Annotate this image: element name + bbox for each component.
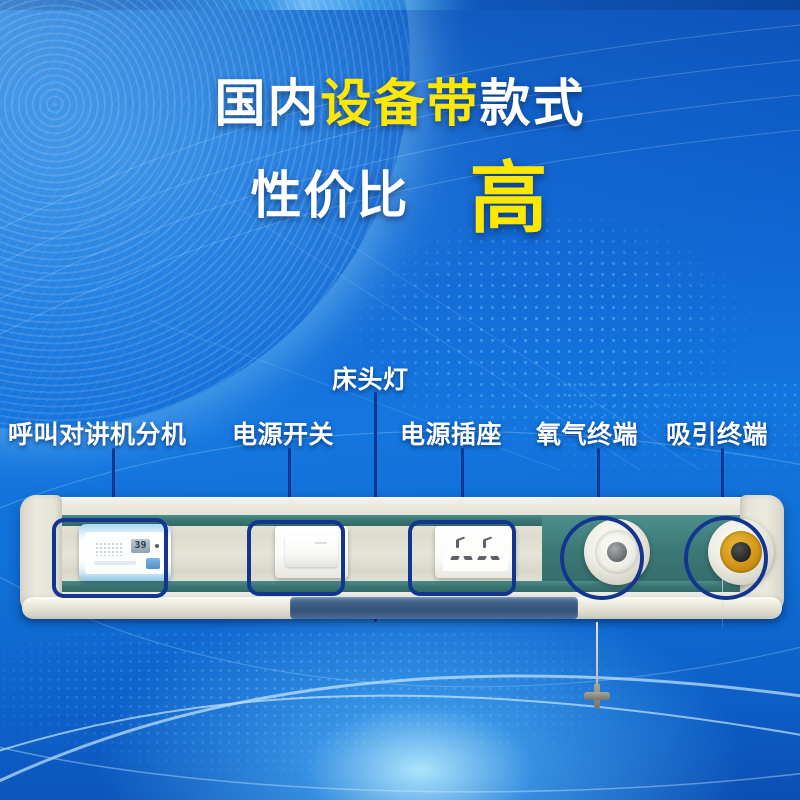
headline-part-2: 设备带 (320, 75, 479, 134)
bed-light-lens (290, 597, 578, 619)
callout-power-socket-label: 电源插座 (400, 415, 502, 451)
highlight-box-power-switch (247, 520, 345, 596)
pull-cord-weight-icon[interactable] (584, 683, 610, 709)
highlight-circle-suction (684, 516, 768, 600)
headline-part-1: 国内 (214, 75, 320, 134)
pull-cord-string[interactable] (596, 622, 598, 692)
highlight-circle-oxygen (560, 516, 644, 600)
headline-accent-word: 高 (470, 154, 550, 244)
callout-bed-light-label: 床头灯 (332, 360, 409, 396)
promo-image: 国内设备带款式 性价比高 呼叫对讲机分机 电源开关 床头灯 电源插座 氧气终端 … (0, 0, 800, 800)
callout-oxygen-label: 氧气终端 (536, 415, 638, 451)
callout-intercom-label: 呼叫对讲机分机 (8, 415, 187, 451)
headline-part-3: 款式 (480, 75, 586, 134)
headline-block: 国内设备带款式 性价比高 (0, 78, 800, 234)
headline-line-2: 性价比高 (0, 154, 800, 234)
headline-line-1: 国内设备带款式 (0, 78, 800, 132)
headline-subtext: 性价比 (250, 167, 409, 226)
highlight-box-intercom (52, 518, 168, 598)
callout-suction-label: 吸引终端 (666, 415, 768, 451)
callout-power-switch-label: 电源开关 (232, 415, 334, 451)
highlight-box-power-socket (408, 520, 516, 596)
